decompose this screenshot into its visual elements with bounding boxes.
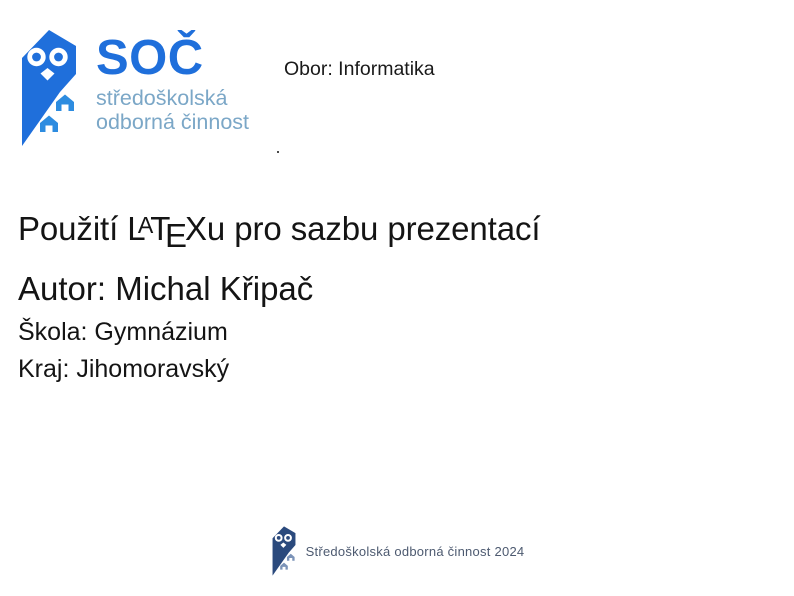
latex-letter-x: X — [185, 210, 207, 247]
soc-logo-subtitle-line1: středoškolská — [96, 86, 249, 110]
title-suffix: pro sazbu prezentací — [234, 210, 540, 247]
slide-footer: Středoškolská odborná činnost 2024 — [0, 526, 794, 576]
latex-suffix: u — [207, 210, 225, 247]
latex-letter-e: E — [165, 217, 187, 254]
soc-logo-acronym: SOČ — [96, 34, 249, 82]
soc-owl-logo-icon — [16, 30, 82, 146]
latex-wordmark: LATEXu — [127, 210, 225, 247]
footer-text: Středoškolská odborná činnost 2024 — [306, 544, 525, 559]
page-title: Použití LATEXu pro sazbu prezentací — [18, 212, 758, 252]
soc-logo-text: SOČ středoškolská odborná činnost — [96, 30, 249, 134]
region-line: Kraj: Jihomoravský — [18, 357, 758, 382]
field-of-study-line: Obor: Informatika — [284, 58, 435, 81]
school-line: Škola: Gymnázium — [18, 320, 758, 345]
soc-logo-subtitle: středoškolská odborná činnost — [96, 86, 249, 134]
title-block: Použití LATEXu pro sazbu prezentací Auto… — [18, 212, 758, 382]
soc-owl-footer-icon — [270, 526, 298, 576]
title-prefix: Použití — [18, 210, 118, 247]
stray-dot-artifact — [277, 151, 279, 153]
soc-logo-block: SOČ středoškolská odborná činnost — [16, 30, 249, 146]
soc-logo-subtitle-line2: odborná činnost — [96, 110, 249, 134]
presentation-title-slide: SOČ středoškolská odborná činnost Obor: … — [0, 0, 794, 596]
author-line: Autor: Michal Křipač — [18, 272, 758, 305]
